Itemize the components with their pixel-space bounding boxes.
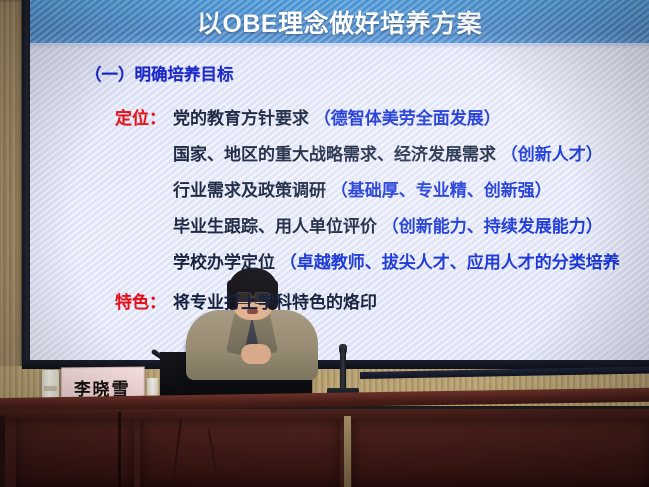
slide-line-3: 行业需求及政策调研 （基础厚、专业精、创新强）: [173, 176, 552, 201]
slide-line-3-paren: （基础厚、专业精、创新强）: [331, 181, 552, 200]
slide-line-1: 党的教育方针要求 （德智体美劳全面发展）: [173, 104, 501, 129]
slide-line-2-main: 国家、地区的重大战略需求、经济发展需求: [173, 145, 496, 164]
slide-line-5-main: 学校办学定位: [173, 253, 275, 272]
label-feature: 特色：: [115, 288, 166, 313]
podium-panel-right: [352, 420, 649, 487]
slide-line-5-paren: （卓越教师、拔尖人才、应用人才的分类培养: [280, 253, 620, 272]
microphone-stand: [340, 348, 346, 392]
slide-line-2: 国家、地区的重大战略需求、经济发展需求 （创新人才）: [173, 140, 603, 165]
podium-panel-divider: [344, 416, 351, 487]
slide-line-5: 学校办学定位 （卓越教师、拔尖人才、应用人才的分类培养: [173, 248, 620, 273]
slide-body: [30, 44, 649, 363]
banner-underline: [30, 43, 649, 46]
label-positioning: 定位：: [115, 104, 166, 129]
paper-cup: [42, 370, 59, 400]
podium-seam: [118, 412, 121, 487]
slide-line-1-paren: （德智体美劳全面发展）: [314, 109, 501, 128]
podium-panel-center: [140, 420, 340, 487]
presenter: [186, 272, 318, 372]
slide-heading: （一）明确培养目标: [85, 61, 234, 85]
slide-line-6: 将专业打上学科特色的烙印: [173, 288, 377, 313]
podium-panel-left: [16, 420, 134, 487]
projection-screen: 以OBE理念做好培养方案 （一）明确培养目标 定位： 特色： 党的教育方针要求 …: [30, 0, 649, 363]
presenter-hands: [241, 344, 271, 364]
slide-line-2-paren: （创新人才）: [501, 145, 603, 164]
slide-line-4-main: 毕业生跟踪、用人单位评价: [173, 217, 377, 236]
wall-slat-panel-left: [0, 0, 22, 412]
slide-title: 以OBE理念做好培养方案: [30, 0, 649, 44]
conference-room-photo: 以OBE理念做好培养方案 （一）明确培养目标 定位： 特色： 党的教育方针要求 …: [0, 0, 649, 487]
slide-line-1-main: 党的教育方针要求: [173, 109, 309, 128]
slide-line-3-main: 行业需求及政策调研: [173, 181, 326, 200]
podium-panel-edge: [0, 416, 5, 487]
slide-line-6-main: 将专业打上学科特色的烙印: [173, 293, 377, 312]
slide-line-4: 毕业生跟踪、用人单位评价 （创新能力、持续发展能力）: [173, 212, 603, 237]
slide-line-4-paren: （创新能力、持续发展能力）: [382, 217, 603, 236]
screen-frame-left: [22, 0, 30, 400]
